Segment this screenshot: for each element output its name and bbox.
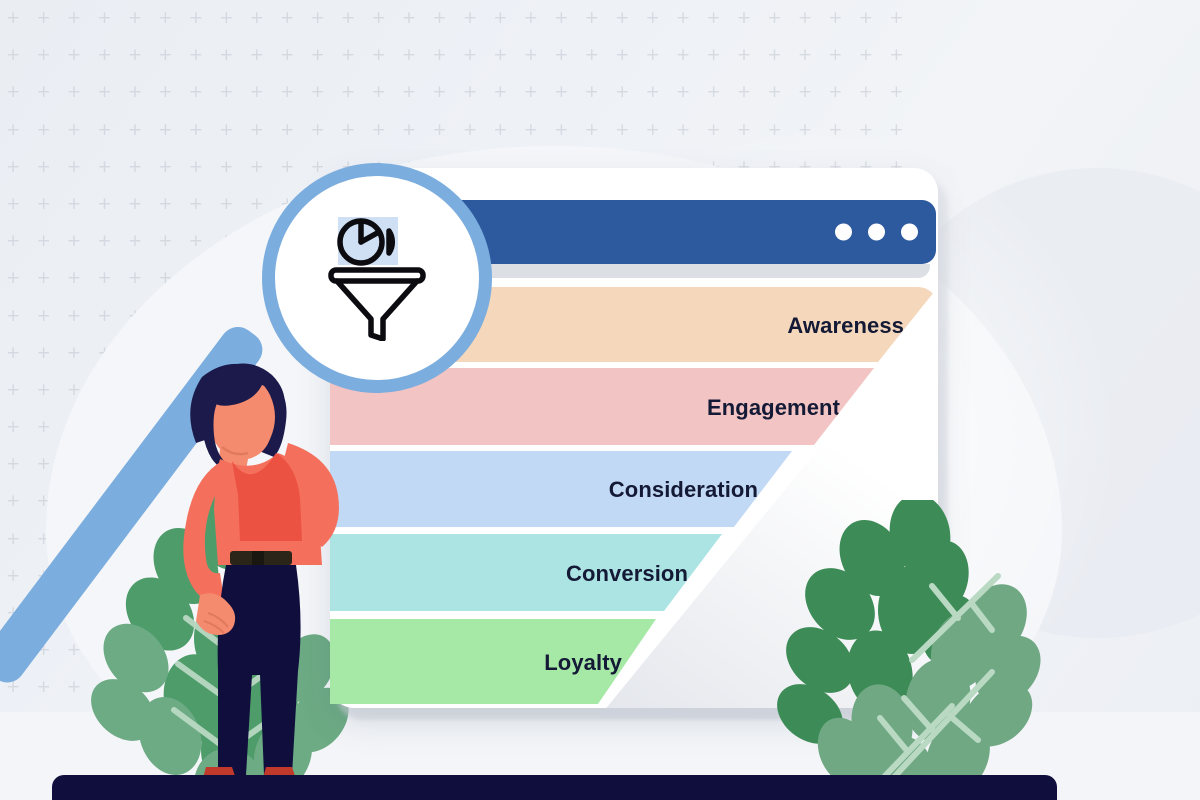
funnel-analytics-icon: [315, 215, 439, 341]
titlebar-shadow: [418, 264, 930, 278]
window-controls[interactable]: [835, 224, 918, 241]
potted-plant-right: [762, 500, 1062, 800]
illustration-canvas: + + + + + + + + + + + + + + + + + + + + …: [0, 0, 1200, 800]
plus-pattern-row: + + + + + + + + + + + + + + + + + + + + …: [6, 74, 1200, 111]
window-control-dot-3[interactable]: [901, 224, 918, 241]
plus-pattern-row: + + + + + + + + + + + + + + + + + + + + …: [6, 37, 1200, 74]
browser-titlebar[interactable]: [418, 200, 936, 264]
funnel-stage-conversion[interactable]: Conversion: [330, 534, 722, 611]
character-woman: [170, 355, 380, 785]
plus-pattern-row: + + + + + + + + + + + + + + + + + + + + …: [6, 0, 1200, 37]
window-control-dot-1[interactable]: [835, 224, 852, 241]
funnel-stage-consideration[interactable]: Consideration: [330, 451, 792, 527]
window-control-dot-2[interactable]: [868, 224, 885, 241]
funnel-stage-label: Conversion: [566, 561, 722, 587]
plus-pattern-row: + + + + + + + + + + + + + + + + + + + + …: [6, 112, 1200, 149]
desk-surface: [52, 775, 1057, 800]
